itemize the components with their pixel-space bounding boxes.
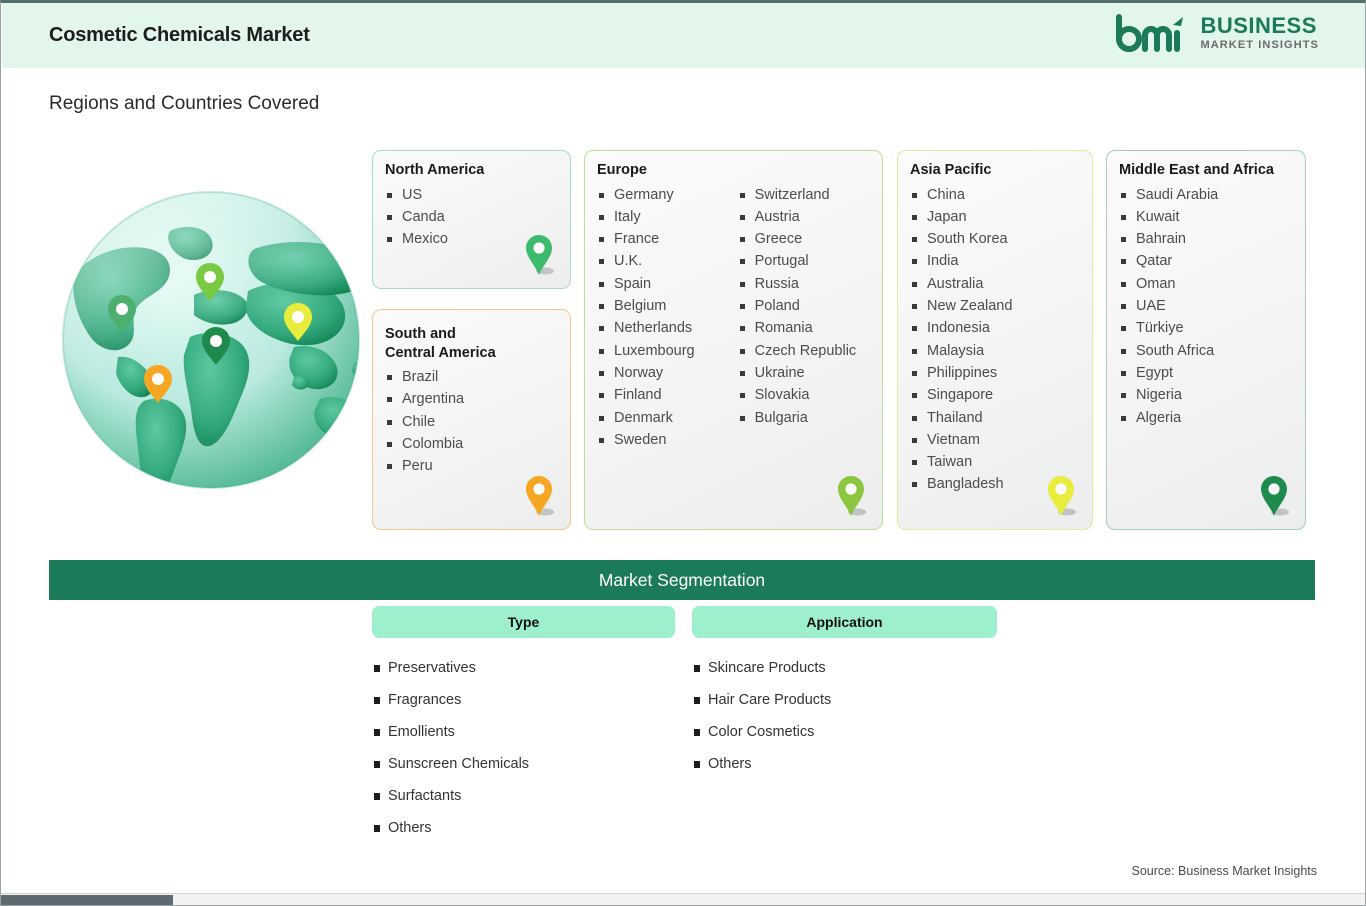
region-title: Middle East and Africa xyxy=(1119,161,1305,180)
list-item: China xyxy=(910,184,1092,206)
list-item: Hair Care Products xyxy=(694,684,831,716)
list-item: Canda xyxy=(385,206,570,228)
map-pin-icon xyxy=(1046,475,1076,517)
region-title-line1: South and xyxy=(385,326,456,342)
country-list: Saudi Arabia Kuwait Bahrain Qatar Oman U… xyxy=(1119,184,1305,429)
list-item: Slovakia xyxy=(738,384,857,406)
segmentation-tab-label: Application xyxy=(806,614,882,630)
list-item: Portugal xyxy=(738,250,857,272)
list-item: Algeria xyxy=(1119,407,1305,429)
region-title: Asia Pacific xyxy=(910,161,1092,180)
list-item: Belgium xyxy=(597,295,695,317)
list-item: Switzerland xyxy=(738,184,857,206)
list-item: Chile xyxy=(385,411,570,433)
list-item: Netherlands xyxy=(597,317,695,339)
globe-icon xyxy=(58,187,364,493)
list-item: Fragrances xyxy=(374,684,529,716)
horizontal-scrollbar[interactable] xyxy=(1,893,1366,905)
list-item: Australia xyxy=(910,273,1092,295)
list-item: Poland xyxy=(738,295,857,317)
list-item: Czech Republic xyxy=(738,340,857,362)
list-item: Romania xyxy=(738,317,857,339)
list-item: India xyxy=(910,250,1092,272)
list-item: Spain xyxy=(597,273,695,295)
list-item: Indonesia xyxy=(910,317,1092,339)
map-pin-icon xyxy=(524,234,554,276)
list-item: Others xyxy=(694,748,831,780)
list-item: US xyxy=(385,184,570,206)
market-segmentation-title: Market Segmentation xyxy=(599,570,765,591)
list-item: Emollients xyxy=(374,716,529,748)
list-item: Norway xyxy=(597,362,695,384)
list-item: South Korea xyxy=(910,228,1092,250)
list-item: New Zealand xyxy=(910,295,1092,317)
country-list-column-1: Germany Italy France U.K. Spain Belgium … xyxy=(597,184,695,452)
list-item: Skincare Products xyxy=(694,652,831,684)
bmi-logo-icon xyxy=(1113,13,1191,53)
list-item: Qatar xyxy=(1119,250,1305,272)
list-item: Philippines xyxy=(910,362,1092,384)
list-item: Preservatives xyxy=(374,652,529,684)
list-item: Singapore xyxy=(910,384,1092,406)
infographic-page: Cosmetic Chemicals Market BUSINESS MARKE… xyxy=(0,0,1366,906)
region-card-europe[interactable]: Europe Germany Italy France U.K. Spain B… xyxy=(584,150,883,530)
list-item: Germany xyxy=(597,184,695,206)
region-card-asia-pacific[interactable]: Asia Pacific China Japan South Korea Ind… xyxy=(897,150,1093,530)
page-header: Cosmetic Chemicals Market BUSINESS MARKE… xyxy=(2,3,1365,68)
list-item: Bulgaria xyxy=(738,407,857,429)
list-item: Colombia xyxy=(385,433,570,455)
region-card-middle-east-africa[interactable]: Middle East and Africa Saudi Arabia Kuwa… xyxy=(1106,150,1306,530)
list-item: Vietnam xyxy=(910,429,1092,451)
region-title: South and Central America xyxy=(385,325,570,362)
list-item: Finland xyxy=(597,384,695,406)
country-list-column-2: Switzerland Austria Greece Portugal Russ… xyxy=(738,184,857,452)
logo-primary-text: BUSINESS xyxy=(1200,15,1319,37)
list-item: Ukraine xyxy=(738,362,857,384)
country-list: China Japan South Korea India Australia … xyxy=(910,184,1092,496)
segmentation-tab-label: Type xyxy=(508,614,540,630)
list-item: Surfactants xyxy=(374,780,529,812)
list-item: Malaysia xyxy=(910,340,1092,362)
list-item: Russia xyxy=(738,273,857,295)
map-pin-icon xyxy=(836,475,866,517)
list-item: Sunscreen Chemicals xyxy=(374,748,529,780)
list-item: South Africa xyxy=(1119,340,1305,362)
scrollbar-thumb[interactable] xyxy=(1,895,173,905)
segmentation-list-type: Preservatives Fragrances Emollients Suns… xyxy=(374,652,529,844)
region-card-north-america[interactable]: North America US Canda Mexico xyxy=(372,150,571,289)
list-item: Saudi Arabia xyxy=(1119,184,1305,206)
list-item: Sweden xyxy=(597,429,695,451)
segmentation-list-application: Skincare Products Hair Care Products Col… xyxy=(694,652,831,780)
region-card-south-central-america[interactable]: South and Central America Brazil Argenti… xyxy=(372,309,571,530)
list-item: Egypt xyxy=(1119,362,1305,384)
globe-illustration xyxy=(58,187,364,493)
list-item: Color Cosmetics xyxy=(694,716,831,748)
market-segmentation-header: Market Segmentation xyxy=(49,560,1315,600)
region-title-line2: Central America xyxy=(385,345,496,361)
list-item: France xyxy=(597,228,695,250)
source-caption: Source: Business Market Insights xyxy=(1132,864,1318,878)
map-pin-icon xyxy=(1259,475,1289,517)
list-item: U.K. xyxy=(597,250,695,272)
list-item: Greece xyxy=(738,228,857,250)
country-list: Brazil Argentina Chile Colombia Peru xyxy=(385,366,570,477)
list-item: Others xyxy=(374,812,529,844)
list-item: UAE xyxy=(1119,295,1305,317)
region-title: North America xyxy=(385,161,570,180)
segmentation-tab-type[interactable]: Type xyxy=(372,606,675,638)
list-item: Italy xyxy=(597,206,695,228)
list-item: Kuwait xyxy=(1119,206,1305,228)
region-title: Europe xyxy=(597,161,882,180)
list-item: Denmark xyxy=(597,407,695,429)
list-item: Luxembourg xyxy=(597,340,695,362)
list-item: Taiwan xyxy=(910,451,1092,473)
logo-secondary-text: MARKET INSIGHTS xyxy=(1200,40,1319,51)
list-item: Brazil xyxy=(385,366,570,388)
section-title: Regions and Countries Covered xyxy=(49,93,319,115)
list-item: Bahrain xyxy=(1119,228,1305,250)
list-item: Nigeria xyxy=(1119,384,1305,406)
list-item: Austria xyxy=(738,206,857,228)
list-item: Oman xyxy=(1119,273,1305,295)
list-item: Japan xyxy=(910,206,1092,228)
page-title: Cosmetic Chemicals Market xyxy=(49,24,310,47)
list-item: Argentina xyxy=(385,388,570,410)
list-item: Thailand xyxy=(910,407,1092,429)
map-pin-icon xyxy=(524,475,554,517)
segmentation-tab-application[interactable]: Application xyxy=(692,606,997,638)
list-item: Türkiye xyxy=(1119,317,1305,339)
brand-logo: BUSINESS MARKET INSIGHTS xyxy=(1113,13,1319,53)
